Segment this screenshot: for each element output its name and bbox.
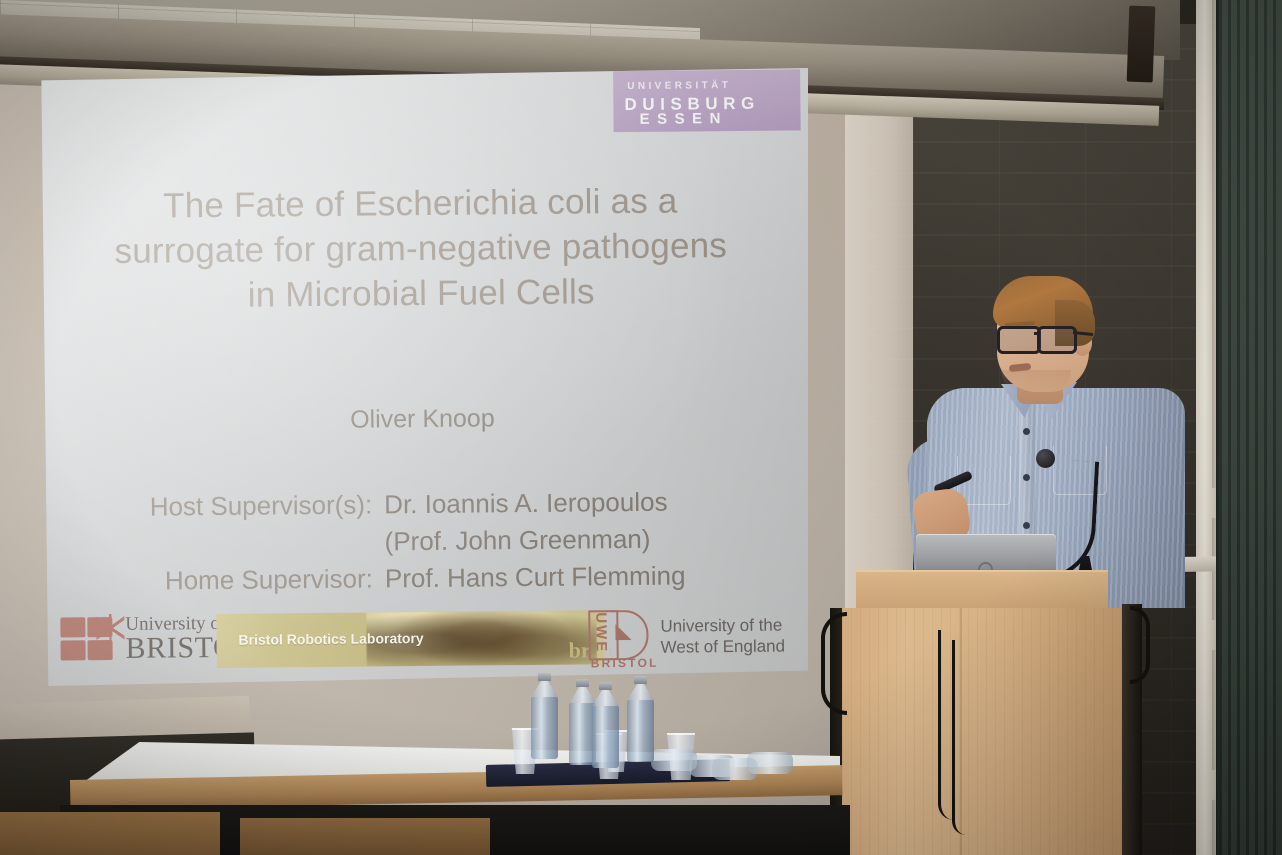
water-bottle-1 [531, 673, 558, 759]
supervisor-label-host: Host Supervisor(s): [107, 486, 384, 526]
screen-rail-bracket [1127, 6, 1156, 83]
jaw-shadow [1001, 370, 1071, 392]
projection-screen: UNIVERSITÄT DUISBURG ESSEN The Fate of E… [36, 68, 808, 686]
supervisor-row-home: Home Supervisor: Prof. Hans Curt Flemmin… [108, 557, 768, 600]
brl-watermark: br [569, 637, 591, 663]
photo-scene: UNIVERSITÄT DUISBURG ESSEN The Fate of E… [0, 0, 1282, 855]
podium-front-panel [842, 608, 1132, 855]
bristol-crest-icon [60, 616, 118, 663]
supervisor-row-secondary: Host Supervisor(s): (Prof. John Greenman… [107, 520, 767, 563]
ude-logo-essen: ESSEN [639, 110, 728, 128]
glasses-icon [997, 326, 1093, 350]
podium-cable-right [1130, 606, 1150, 684]
window-curtain [1219, 0, 1282, 855]
ude-logo-universitaet: UNIVERSITÄT [627, 80, 731, 92]
slide-title: The Fate of Escherichia coli as a surrog… [64, 178, 777, 320]
uwe-mark-letters: UWE [592, 612, 609, 653]
supervisor-label-home: Home Supervisor: [108, 560, 385, 600]
supervisor-value-host: Dr. Ioannis A. Ieropoulos [384, 483, 767, 524]
slide-title-line-2: surrogate for gram-negative pathogens [65, 223, 777, 275]
brl-banner-text: Bristol Robotics Laboratory [238, 630, 423, 648]
podium-wood-grain [842, 608, 1132, 855]
uwe-mark-bristol: BRISTOL [591, 656, 659, 671]
supervisor-row-host: Host Supervisor(s): Dr. Ioannis A. Ierop… [107, 483, 767, 526]
supervisor-value-home: Prof. Hans Curt Flemming [385, 557, 768, 598]
shirt-button-mid [1023, 474, 1030, 481]
supervisor-block: Host Supervisor(s): Dr. Ioannis A. Ierop… [107, 483, 768, 600]
floor-cable-2 [952, 640, 973, 835]
bristol-robotics-lab-banner: Bristol Robotics Laboratory br [216, 610, 605, 668]
shirt-button-top [1023, 428, 1030, 435]
uwe-name-line-1: University of the [660, 614, 785, 636]
slide-title-line-1: The Fate of Escherichia coli as a [64, 178, 776, 230]
slide-author: Oliver Knoop [66, 402, 778, 438]
supervisor-value-secondary: (Prof. John Greenman) [384, 520, 767, 561]
podium-cable-left [821, 612, 847, 715]
slide-title-line-3: in Microbial Fuel Cells [65, 268, 777, 320]
bristol-sun-icon [96, 613, 124, 641]
water-bottle-4 [627, 676, 654, 762]
ude-logo: UNIVERSITÄT DUISBURG ESSEN [613, 69, 801, 132]
bench-right [240, 818, 490, 855]
water-bottle-3 [592, 682, 619, 768]
uwe-name-line-2: West of England [661, 636, 786, 658]
uwe-logo: UWE BRISTOL University of the West of En… [588, 605, 785, 669]
bench-left [0, 812, 220, 855]
microphone-head-icon [1036, 449, 1055, 468]
uwe-mark-icon: UWE BRISTOL [588, 606, 649, 669]
